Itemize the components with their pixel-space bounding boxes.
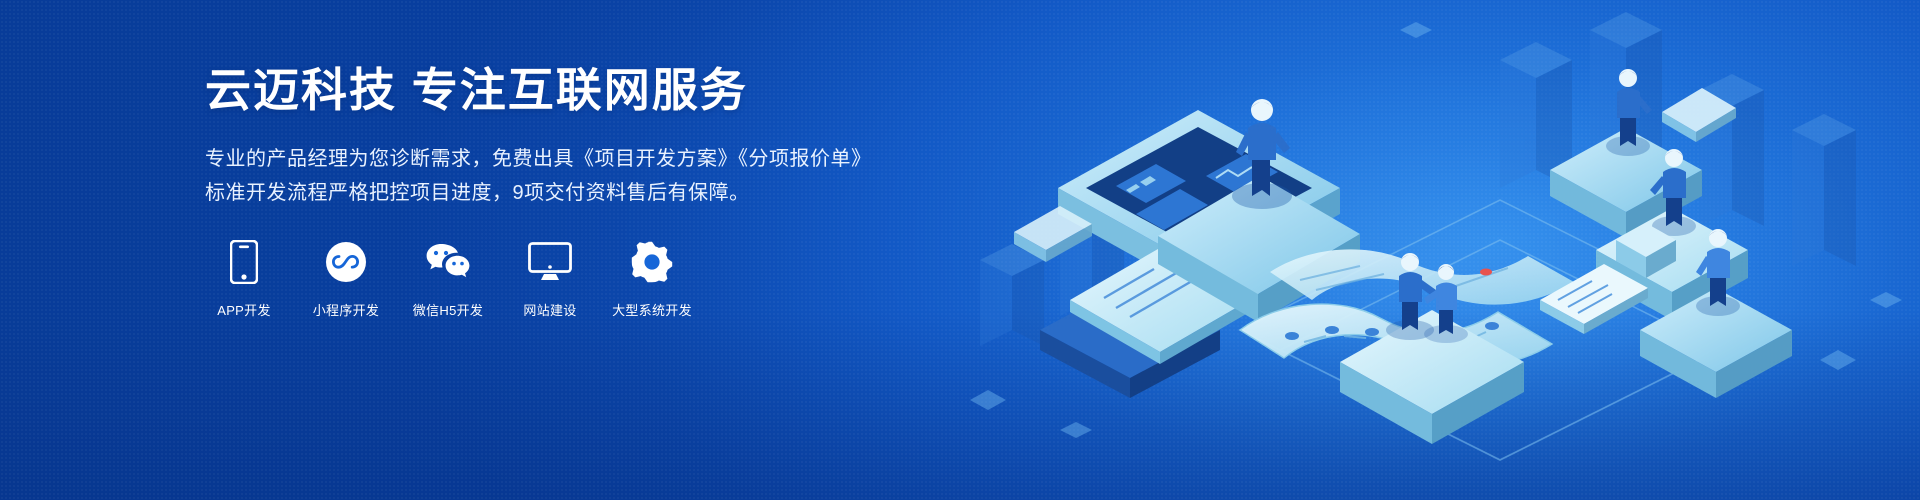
service-item-website[interactable]: 网站建设 bbox=[511, 240, 589, 319]
service-label-app: APP开发 bbox=[217, 300, 271, 319]
gear-icon bbox=[631, 240, 673, 284]
banner-subtitle-line-2: 标准开发流程严格把控项目进度，9项交付资料售后有保障。 bbox=[205, 176, 905, 210]
service-item-wechat-h5[interactable]: 微信H5开发 bbox=[409, 240, 487, 319]
banner-headline: 云迈科技 专注互联网服务 bbox=[205, 62, 905, 120]
service-item-large-system[interactable]: 大型系统开发 bbox=[613, 240, 691, 319]
mini-program-icon bbox=[325, 240, 367, 284]
monitor-icon bbox=[528, 240, 572, 284]
service-label-website: 网站建设 bbox=[523, 300, 576, 319]
service-item-app[interactable]: APP开发 bbox=[205, 240, 283, 319]
banner-content: 云迈科技 专注互联网服务 专业的产品经理为您诊断需求，免费出具《项目开发方案》《… bbox=[205, 62, 905, 319]
service-item-mini-program[interactable]: 小程序开发 bbox=[307, 240, 385, 319]
service-label-wechat-h5: 微信H5开发 bbox=[413, 300, 483, 319]
wechat-icon bbox=[425, 240, 471, 284]
mobile-phone-icon bbox=[230, 240, 258, 284]
service-list: APP开发 小程序开发 bbox=[205, 240, 905, 319]
banner-subtitle: 专业的产品经理为您诊断需求，免费出具《项目开发方案》《分项报价单》 标准开发流程… bbox=[205, 142, 905, 210]
hero-banner: 云迈科技 专注互联网服务 专业的产品经理为您诊断需求，免费出具《项目开发方案》《… bbox=[0, 0, 1920, 500]
service-label-mini-program: 小程序开发 bbox=[313, 300, 380, 319]
service-label-large-system: 大型系统开发 bbox=[612, 300, 692, 319]
isometric-illustration bbox=[940, 0, 1920, 500]
banner-subtitle-line-1: 专业的产品经理为您诊断需求，免费出具《项目开发方案》《分项报价单》 bbox=[205, 142, 905, 176]
